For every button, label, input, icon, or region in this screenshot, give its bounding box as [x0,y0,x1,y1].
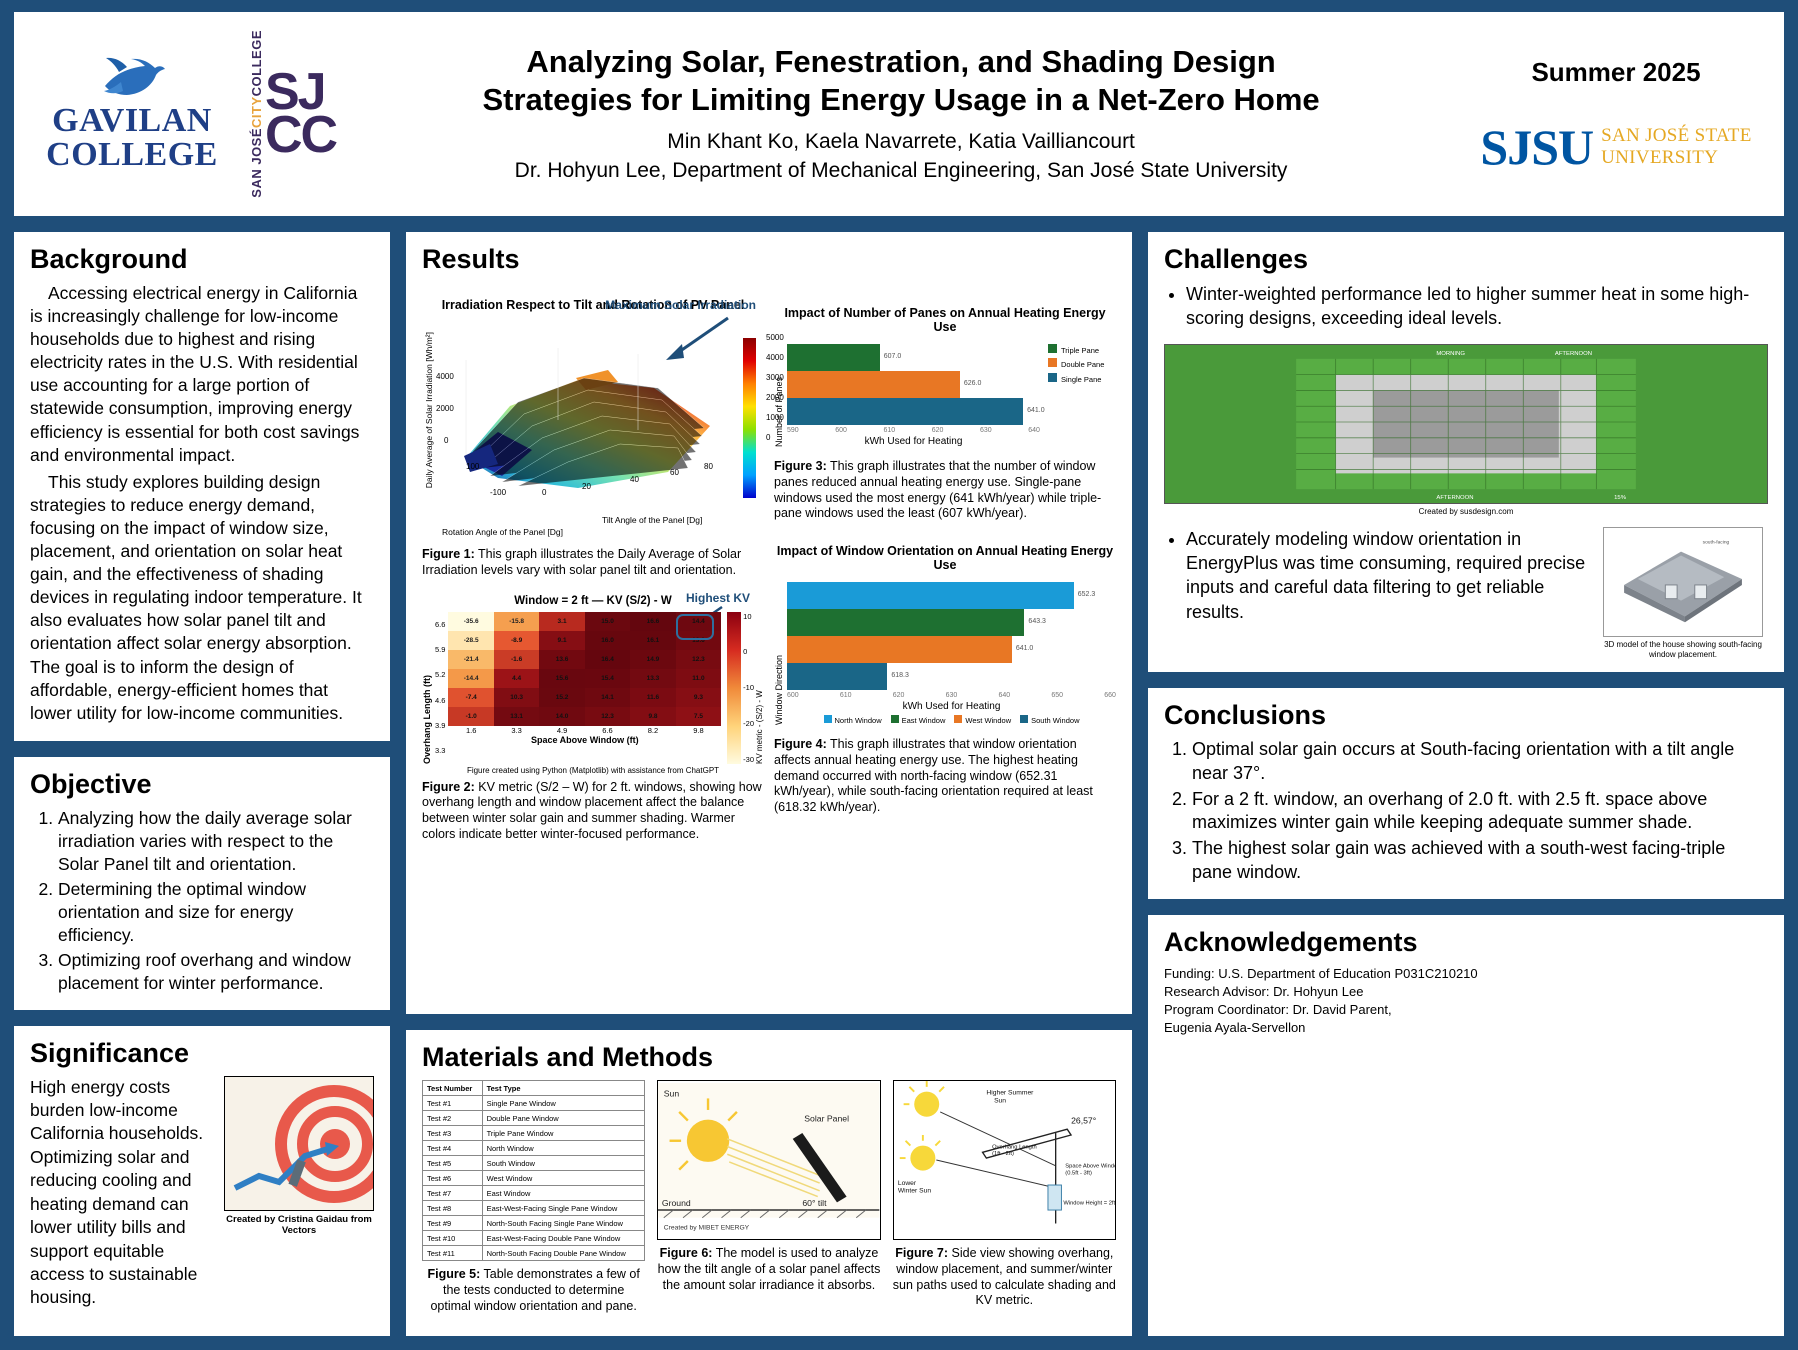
house-model-block: south-facing 3D model of the house showi… [1598,527,1768,660]
x-tick: 600 [835,427,847,434]
sjcc-letters-bottom: CC [265,114,336,157]
objective-section: Objective Analyzing how the daily averag… [12,755,392,1012]
heatmap-cell: -15.8 [494,612,539,631]
figure4-label: Figure 4: [774,737,827,751]
x-tick: 6.6 [602,726,612,735]
middle-column: Results Maximum Solar Irradiation Irradi… [404,230,1134,1338]
svg-text:Sun: Sun [994,1097,1006,1104]
heatmap-colorbar-label: KV metric - (S/2) - W [755,612,764,764]
legend-label: East Window [902,716,946,725]
surface-y-tick-100: 100 [466,462,479,471]
table-cell: Test #8 [423,1201,483,1216]
figure2-caption: Figure 2: KV metric (S/2 – W) for 2 ft. … [422,780,764,843]
heatmap-cell: -21.4 [448,650,493,669]
house-model-svg: south-facing [1604,528,1762,636]
table-row: Test #8East-West-Facing Single Pane Wind… [423,1201,645,1216]
figure3-label: Figure 3: [774,459,827,473]
figure1-label: Figure 1: [422,547,475,561]
list-item: Accurately modeling window orientation i… [1186,527,1590,623]
solar-panel-tilt-diagram: Sun Solar Panel Ground 60° tilt Created … [657,1080,880,1240]
heatmap-cell: 12.3 [676,650,721,669]
svg-text:(0.5ft - 3ft): (0.5ft - 3ft) [1065,1170,1092,1176]
orientation-y-axis-label: Window Direction [774,582,784,725]
heatmap-cell: 10.3 [494,688,539,707]
heatmap-cell: 16.0 [585,631,630,650]
orientation-chart-title: Impact of Window Orientation on Annual H… [774,544,1116,572]
table-cell: Test #5 [423,1156,483,1171]
figure7-label: Figure 7: [895,1246,948,1260]
label-lower-winter-sun: Lower [898,1180,917,1187]
bar-value-label: 652.3 [1078,591,1096,598]
figure6-label: Figure 6: [660,1246,713,1260]
x-tick: 640 [1028,427,1040,434]
bar [787,398,1023,425]
right-column: Challenges Winter-weighted performance l… [1146,230,1786,1338]
results-left-column: Maximum Solar Irradiation Irradiation Re… [422,282,764,843]
heatmap-y-ticks: 6.6 5.9 5.2 4.6 3.9 3.3 [435,612,445,764]
overhang-diagram-block: Higher Summer Sun Overhang Length (1ft -… [893,1080,1116,1314]
heatmap-colorbar-ticks: 10 0 -10 -20 -30 [743,612,754,764]
figure2-label: Figure 2: [422,780,475,794]
x-tick: 600 [787,692,799,699]
summer-sun-icon [914,1092,939,1117]
list-item: Optimal solar gain occurs at South-facin… [1192,738,1768,786]
significance-text: High energy costs burden low-income Cali… [30,1076,214,1310]
label-window-height: Window Height = 2ft [1063,1200,1115,1206]
term-label: Summer 2025 [1466,57,1766,88]
table-cell: Triple Pane Window [482,1126,645,1141]
heatmap-x-axis-label: Space Above Window (ft) [448,735,721,745]
y-tick: 3.9 [435,721,445,730]
results-section: Results Maximum Solar Irradiation Irradi… [404,230,1134,1016]
x-tick: 640 [999,692,1011,699]
label-space-above-window: Space Above Window [1065,1164,1115,1170]
table-cell: East-West-Facing Single Pane Window [482,1201,645,1216]
sjsu-wordmark: SJSU [1480,122,1593,172]
heatmap-cell: -35.6 [448,612,493,631]
bar-row: 643.3 [787,609,1116,636]
table-cell: Test #6 [423,1171,483,1186]
challenges-list: Winter-weighted performance led to highe… [1164,282,1768,330]
background-paragraph-2: This study explores building design stra… [30,471,374,725]
header-right: Summer 2025 SJSU SAN JOSÉ STATE UNIVERSI… [1466,57,1766,172]
poster-root: GAVILAN COLLEGE SAN JOSÉCITYCOLLEGE SJ C… [0,0,1798,1350]
panes-legend: Triple Pane Double Pane Single Pane [1048,344,1116,447]
cbar-tick: 10 [743,612,754,621]
heatmap-cell: 9.3 [676,688,721,707]
surface-plot-mesh [458,340,718,490]
bar [787,636,1012,663]
panes-bar-chart: Number of Panes 607.0626.0641.0 590 600 … [774,344,1116,447]
gavilan-college-logo: GAVILAN COLLEGE [32,56,232,172]
sjsu-sub-line1: SAN JOSÉ STATE [1601,125,1751,146]
heatmap-cell: 4.4 [494,669,539,688]
tests-table-block: Test Number Test Type Test #1Single Pane… [422,1080,645,1314]
heatmap-cell: 9.8 [630,707,675,726]
background-paragraph-1: Accessing electrical energy in Californi… [30,282,374,467]
conclusions-heading: Conclusions [1164,700,1768,731]
legend-label: North Window [835,716,882,725]
x-tick: 660 [1104,692,1116,699]
y-tick: 5.9 [435,645,445,654]
heatmap-y-axis-label: Overhang Length (ft) [422,612,432,764]
diagram-label-panel: Solar Panel [805,1114,850,1124]
target-growth-image [224,1076,374,1211]
table-cell: Test #3 [423,1126,483,1141]
heatmap-cell: 13.3 [630,669,675,688]
advisor-line: Dr. Hohyun Lee, Department of Mechanical… [346,157,1456,184]
susdesign-grid-svg: MORNING AFTERNOON AFTERNOON 15% [1165,345,1767,503]
surface-x-axis-label: Tilt Angle of the Panel [Dg] [602,515,702,525]
table-row: Test #1Single Pane Window [423,1096,645,1111]
x-tick: 4.9 [557,726,567,735]
y-tick: 4.6 [435,696,445,705]
table-cell: Test #10 [423,1231,483,1246]
heatmap-cell: -8.9 [494,631,539,650]
table-row: Test #3Triple Pane Window [423,1126,645,1141]
orientation-x-axis-label: kWh Used for Heating [787,701,1116,712]
table-cell: Test #11 [423,1246,483,1261]
table-cell: Test #2 [423,1111,483,1126]
heatmap-cell: 11.0 [676,669,721,688]
diagram-label-sun: Sun [664,1088,680,1098]
heatmap-cell: 13.6 [539,650,584,669]
dove-icon [97,56,167,102]
sun-icon [687,1120,729,1162]
list-item: The highest solar gain was achieved with… [1192,837,1768,885]
surface-y-tick-neg100: -100 [490,488,506,497]
bar [787,371,960,398]
heatmap-colorbar [727,612,741,764]
bar-row: 607.0 [787,344,1040,371]
overhang-sunpath-diagram: Higher Summer Sun Overhang Length (1ft -… [893,1080,1116,1240]
significance-section: Significance High energy costs burden lo… [12,1024,392,1338]
orientation-x-ticks: 600 610 620 630 640 650 660 [787,692,1116,699]
table-row: Test #7East Window [423,1186,645,1201]
bar-row: 641.0 [787,398,1040,425]
surface-y-axis-label: Rotation Angle of the Panel [Dg] [442,527,764,537]
legend-label: Triple Pane [1061,346,1099,355]
diagram-credit: Created by MIBET ENERGY [664,1224,750,1231]
solar-tilt-svg: Sun Solar Panel Ground 60° tilt Created … [658,1081,879,1239]
surface-chart-3d: Daily Average of Solar Irradiation [Wh/m… [422,312,764,527]
gavilan-line2: COLLEGE [32,138,232,172]
left-column: Background Accessing electrical energy i… [12,230,392,1338]
grid-image-credit: Created by susdesign.com [1164,507,1768,517]
sjsu-sub-line2: UNIVERSITY [1601,147,1751,168]
x-tick: 3.3 [511,726,521,735]
house-3d-model-image: south-facing [1603,527,1763,637]
acknowledgements-section: Acknowledgements Funding: U.S. Departmen… [1146,913,1786,1338]
figure2-credit: Figure created using Python (Matplotlib)… [422,766,764,775]
heatmap-cell: 14.1 [585,688,630,707]
x-tick: 630 [946,692,958,699]
y-tick: 6.6 [435,620,445,629]
results-heading: Results [422,244,1116,275]
table-cell: North Window [482,1141,645,1156]
figure4-caption: Figure 4: This graph illustrates that wi… [774,737,1116,816]
bar-value-label: 626.0 [964,380,982,387]
figure3-caption: Figure 3: This graph illustrates that th… [774,459,1116,522]
y-tick: 5.2 [435,670,445,679]
table-row: Test #10East-West-Facing Double Pane Win… [423,1231,645,1246]
gavilan-line1: GAVILAN [32,104,232,138]
panes-y-axis-label: Number of Panes [774,344,784,447]
label-overhang-length: Overhang Length [992,1144,1037,1150]
grid-label-pct: 15% [1614,495,1627,501]
table-cell: East-West-Facing Double Pane Window [482,1231,645,1246]
list-item: Winter-weighted performance led to highe… [1186,282,1768,330]
table-cell: Double Pane Window [482,1111,645,1126]
author-list: Min Khant Ko, Kaela Navarrete, Katia Vai… [346,128,1456,155]
poster-title-line1: Analyzing Solar, Fenestration, and Shadi… [346,43,1456,81]
heatmap-cell: 11.6 [630,688,675,707]
x-tick: 620 [932,427,944,434]
legend-label: Double Pane [1061,360,1104,369]
heatmap-cell: -7.4 [448,688,493,707]
table-cell: South Window [482,1156,645,1171]
orientation-bar-chart: Window Direction 652.3643.3641.0618.3 60… [774,582,1116,725]
table-header: Test Type [482,1081,645,1096]
diagram-label-tilt: 60° tilt [803,1198,828,1208]
background-section: Background Accessing electrical energy i… [12,230,392,743]
diagram-label-ground: Ground [662,1198,691,1208]
growth-arrow-icon [233,1142,339,1192]
heatmap-x-ticks: 1.6 3.3 4.9 6.6 8.2 9.8 [448,726,721,735]
cbar-tick: -20 [743,719,754,728]
background-heading: Background [30,244,374,275]
heatmap-cell: -14.4 [448,669,493,688]
bar-value-label: 607.0 [884,353,902,360]
x-tick: 1.6 [466,726,476,735]
table-cell: Test #4 [423,1141,483,1156]
bar-value-label: 641.0 [1027,407,1045,414]
heatmap-cell: -1.0 [448,707,493,726]
figure1-caption: Figure 1: This graph illustrates the Dai… [422,547,764,579]
bar-row: 652.3 [787,582,1116,609]
surface-z-tick-4000: 4000 [436,372,454,381]
panes-x-axis-label: kWh Used for Heating [787,436,1040,447]
highest-kv-annotation: Highest KV [686,591,750,605]
orientation-legend: North Window East Window West Window Sou… [787,715,1116,725]
bar [787,609,1024,636]
poster-header: GAVILAN COLLEGE SAN JOSÉCITYCOLLEGE SJ C… [12,10,1786,218]
heatmap-cell: 14.9 [630,650,675,669]
surface-z-axis-label: Daily Average of Solar Irradiation [Wh/m… [424,332,434,488]
x-tick: 620 [893,692,905,699]
heatmap-highlight-box [676,614,714,640]
table-cell: Test #1 [423,1096,483,1111]
grid-label-top-right: AFTERNOON [1555,351,1592,357]
heatmap-cell: 15.6 [539,669,584,688]
x-tick: 610 [840,692,852,699]
list-item: Analyzing how the daily average solar ir… [58,807,374,876]
surface-x-tick-20: 20 [582,482,591,491]
materials-heading: Materials and Methods [422,1042,1116,1073]
table-cell: East Window [482,1186,645,1201]
solar-panel-diagram-block: Sun Solar Panel Ground 60° tilt Created … [657,1080,880,1314]
objective-heading: Objective [30,769,374,800]
table-cell: Test #7 [423,1186,483,1201]
bar-row: 641.0 [787,636,1116,663]
bar-value-label: 643.3 [1028,618,1046,625]
figure5-caption: Figure 5: Table demonstrates a few of th… [422,1267,645,1314]
cbar-tick: 0 [743,647,754,656]
panes-chart-title: Impact of Number of Panes on Annual Heat… [774,306,1116,334]
figure7-caption: Figure 7: Side view showing overhang, wi… [893,1246,1116,1309]
significance-heading: Significance [30,1038,374,1069]
svg-text:(1ft - 2ft): (1ft - 2ft) [992,1151,1014,1157]
heatmap-cell: 7.5 [676,707,721,726]
x-tick: 610 [884,427,896,434]
sjsu-logo: SJSU SAN JOSÉ STATE UNIVERSITY [1466,122,1766,172]
bar-value-label: 641.0 [1016,645,1034,652]
table-row: Test #2Double Pane Window [423,1111,645,1126]
poster-body: Background Accessing electrical energy i… [12,230,1786,1338]
heatmap-cell: -1.6 [494,650,539,669]
grid-label-top: MORNING [1436,351,1465,357]
conclusions-section: Conclusions Optimal solar gain occurs at… [1146,686,1786,901]
bar-row: 618.3 [787,663,1116,690]
table-cell: Test #9 [423,1216,483,1231]
acknowledgements-heading: Acknowledgements [1164,927,1768,958]
table-row: Test #5South Window [423,1156,645,1171]
x-tick: 8.2 [648,726,658,735]
bar [787,344,880,371]
heatmap-cell: 16.4 [585,650,630,669]
challenges-heading: Challenges [1164,244,1768,275]
house-image-credit: 3D model of the house showing south-faci… [1598,640,1768,660]
poster-title-line2: Strategies for Limiting Energy Usage in … [346,81,1456,119]
heatmap-cell: 16.1 [630,631,675,650]
x-tick: 630 [980,427,992,434]
table-row: Test #11North-South Facing Double Pane W… [423,1246,645,1261]
heatmap-cell: 14.0 [539,707,584,726]
label-shading-angle: 26,57° [1071,1115,1096,1125]
significance-image-credit: Created by Cristina Gaidau from Vectors [224,1214,374,1238]
panes-x-ticks: 590 600 610 620 630 640 [787,427,1040,434]
heatmap-cell: 15.0 [585,612,630,631]
svg-text:Winter Sun: Winter Sun [898,1188,931,1195]
panes-bars: 607.0626.0641.0 [787,344,1040,425]
title-block: Analyzing Solar, Fenestration, and Shadi… [336,43,1466,184]
table-cell: Single Pane Window [482,1096,645,1111]
svg-text:south-facing: south-facing [1703,540,1730,546]
challenges-list-2: Accurately modeling window orientation i… [1164,527,1590,637]
window-shape [1048,1185,1061,1210]
sjcc-logo: SAN JOSÉCITYCOLLEGE SJ CC [250,30,336,198]
table-row: Test #6West Window [423,1171,645,1186]
table-cell: North-South Facing Single Pane Window [482,1216,645,1231]
results-right-column: Impact of Number of Panes on Annual Heat… [774,282,1116,843]
y-tick: 3.3 [435,746,445,755]
ack-coordinator: Program Coordinator: Dr. David Parent, [1164,1001,1768,1019]
legend-label: Single Pane [1061,375,1101,384]
surface-z-tick-2000: 2000 [436,404,454,413]
bar [787,582,1074,609]
table-cell: West Window [482,1171,645,1186]
x-tick: 650 [1051,692,1063,699]
table-row: Test #9North-South Facing Single Pane Wi… [423,1216,645,1231]
ack-advisor: Research Advisor: Dr. Hohyun Lee [1164,983,1768,1001]
figure6-caption: Figure 6: The model is used to analyze h… [657,1246,880,1293]
heatmap-cell: 15.2 [539,688,584,707]
list-item: Determining the optimal window orientati… [58,878,374,947]
max-irradiation-annotation: Maximum Solar Irradiation [605,298,756,312]
ack-funding: Funding: U.S. Department of Education P0… [1164,965,1768,983]
overhang-svg: Higher Summer Sun Overhang Length (1ft -… [894,1081,1115,1239]
heatmap-cell: 9.1 [539,631,584,650]
legend-label: West Window [965,716,1011,725]
significance-figure: Created by Cristina Gaidau from Vectors [224,1076,374,1310]
heatmap-cell: 15.4 [585,669,630,688]
tests-table: Test Number Test Type Test #1Single Pane… [422,1080,645,1261]
surface-colorbar [743,338,756,498]
surface-z-tick-0: 0 [444,436,448,445]
orientation-bars: 652.3643.3641.0618.3 [787,582,1116,690]
surface-y-tick-0: 0 [542,488,546,497]
cbar-tick: -30 [743,755,754,764]
bar [787,663,887,690]
materials-methods-section: Materials and Methods Test Number Test T… [404,1028,1134,1338]
heatmap-cell: -28.5 [448,631,493,650]
bar-row: 626.0 [787,371,1040,398]
legend-label: South Window [1031,716,1079,725]
table-cell: North-South Facing Double Pane Window [482,1246,645,1261]
heatmap-cell: 3.1 [539,612,584,631]
bar-value-label: 618.3 [891,672,909,679]
surface-x-tick-60: 60 [670,468,679,477]
heatmap-cell: 13.1 [494,707,539,726]
list-item: For a 2 ft. window, an overhang of 2.0 f… [1192,788,1768,836]
grid-label-bottom: AFTERNOON [1436,495,1473,501]
surface-x-tick-40: 40 [630,475,639,484]
label-higher-summer-sun: Higher Summer [986,1090,1034,1097]
heatmap-cell: 16.6 [630,612,675,631]
table-header: Test Number [423,1081,483,1096]
objective-list: Analyzing how the daily average solar ir… [30,807,374,996]
x-tick: 9.8 [693,726,703,735]
heatmap-cell: 12.3 [585,707,630,726]
conclusions-list: Optimal solar gain occurs at South-facin… [1164,738,1768,885]
table-row: Test #4North Window [423,1141,645,1156]
winter-sun-icon [910,1146,935,1171]
figure5-label: Figure 5: [427,1267,480,1281]
cbar-tick: -10 [743,683,754,692]
list-item: Optimizing roof overhang and window plac… [58,949,374,995]
surface-x-tick-80: 80 [704,462,713,471]
ack-coordinator-2: Eugenia Ayala-Servellon [1164,1019,1768,1037]
shading-grid-image: MORNING AFTERNOON AFTERNOON 15% [1164,344,1768,504]
challenges-section: Challenges Winter-weighted performance l… [1146,230,1786,674]
